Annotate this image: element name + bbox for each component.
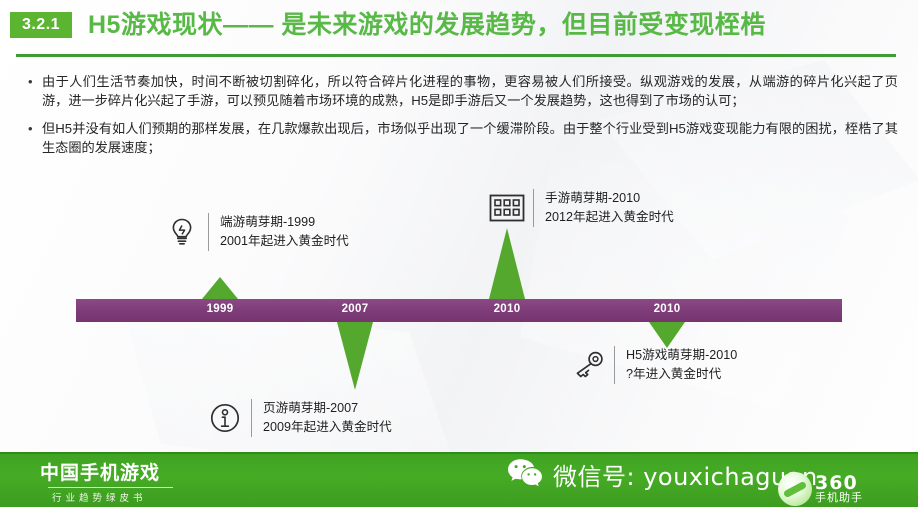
- callout-text: H5游戏萌芽期-2010 ?年进入黄金时代: [626, 346, 737, 384]
- timeline-marker-down-2007: [337, 322, 373, 390]
- header-divider: [16, 54, 896, 57]
- callout-text: 端游萌芽期-1999 2001年起进入黄金时代: [220, 213, 349, 251]
- timeline-year-label: 2007: [342, 303, 369, 315]
- wechat-icon: [505, 455, 545, 494]
- brand-underline: [48, 487, 173, 488]
- key-icon: [568, 345, 608, 385]
- lightbulb-icon: [162, 212, 202, 252]
- logo-360-number: 360: [815, 474, 863, 492]
- brand-subtitle: 行业趋势绿皮书: [52, 490, 173, 504]
- slide-header: 3.2.1 H5游戏现状—— 是未来游戏的发展趋势，但目前受变现桎梏: [0, 0, 918, 62]
- list-item: • 由于人们生活节奏加快，时间不断被切割碎化，所以符合碎片化进程的事物，更容易被…: [28, 72, 898, 110]
- list-item: • 但H5并没有如人们预期的那样发展，在几款爆款出现后，市场似乎出现了一个缓滞阶…: [28, 119, 898, 157]
- callout-divider: [208, 213, 209, 251]
- brand-title: 中国手机游戏: [40, 458, 173, 485]
- callout-line-2: 2001年起进入黄金时代: [220, 232, 349, 251]
- callout-line-1: 端游萌芽期-1999: [220, 213, 349, 232]
- bullet-marker: •: [28, 119, 42, 157]
- section-number-badge: 3.2.1: [10, 12, 72, 38]
- logo-360-subtitle: 手机助手: [815, 492, 863, 505]
- logo-360-text: 360 手机助手: [815, 474, 863, 505]
- callout-line-2: 2012年起进入黄金时代: [545, 208, 674, 227]
- callout-line-2: ?年进入黄金时代: [626, 365, 737, 384]
- callout-text: 手游萌芽期-2010 2012年起进入黄金时代: [545, 189, 674, 227]
- keypad-grid-icon: [487, 188, 527, 228]
- callout-h5-game: H5游戏萌芽期-2010 ?年进入黄金时代: [568, 345, 737, 385]
- timeline-year-label: 1999: [207, 303, 234, 315]
- bullet-text: 但H5并没有如人们预期的那样发展，在几款爆款出现后，市场似乎出现了一个缓滞阶段。…: [42, 119, 898, 157]
- brand-logo: 中国手机游戏 行业趋势绿皮书: [40, 458, 173, 504]
- callout-text: 页游萌芽期-2007 2009年起进入黄金时代: [263, 399, 392, 437]
- timeline-marker-up-1999: [202, 277, 238, 299]
- callout-line-1: H5游戏萌芽期-2010: [626, 346, 737, 365]
- timeline-bar: [76, 299, 842, 322]
- bullet-list: • 由于人们生活节奏加快，时间不断被切割碎化，所以符合碎片化进程的事物，更容易被…: [28, 72, 898, 166]
- callout-web-game: 页游萌芽期-2007 2009年起进入黄金时代: [205, 398, 392, 438]
- logo-360-mobile-assistant: 360 手机助手: [778, 472, 863, 506]
- callout-line-1: 手游萌芽期-2010: [545, 189, 674, 208]
- callout-divider: [251, 399, 252, 437]
- wechat-info: 微信号: youxichaguan: [505, 455, 818, 494]
- callout-divider: [614, 346, 615, 384]
- timeline-marker-up-2010-mobile: [489, 228, 525, 299]
- callout-line-2: 2009年起进入黄金时代: [263, 418, 392, 437]
- bullet-text: 由于人们生活节奏加快，时间不断被切割碎化，所以符合碎片化进程的事物，更容易被人们…: [42, 72, 898, 110]
- footer-top-border: [0, 452, 918, 454]
- timeline-year-label: 2010: [494, 303, 521, 315]
- callout-divider: [533, 189, 534, 227]
- timeline-year-label: 2010: [654, 303, 681, 315]
- logo-360-mark-icon: [778, 472, 812, 506]
- bullet-marker: •: [28, 72, 42, 110]
- callout-mobile-game: 手游萌芽期-2010 2012年起进入黄金时代: [487, 188, 674, 228]
- callout-pc-game: 端游萌芽期-1999 2001年起进入黄金时代: [162, 212, 349, 252]
- page-title: H5游戏现状—— 是未来游戏的发展趋势，但目前受变现桎梏: [88, 5, 766, 41]
- info-person-icon: [205, 398, 245, 438]
- callout-line-1: 页游萌芽期-2007: [263, 399, 392, 418]
